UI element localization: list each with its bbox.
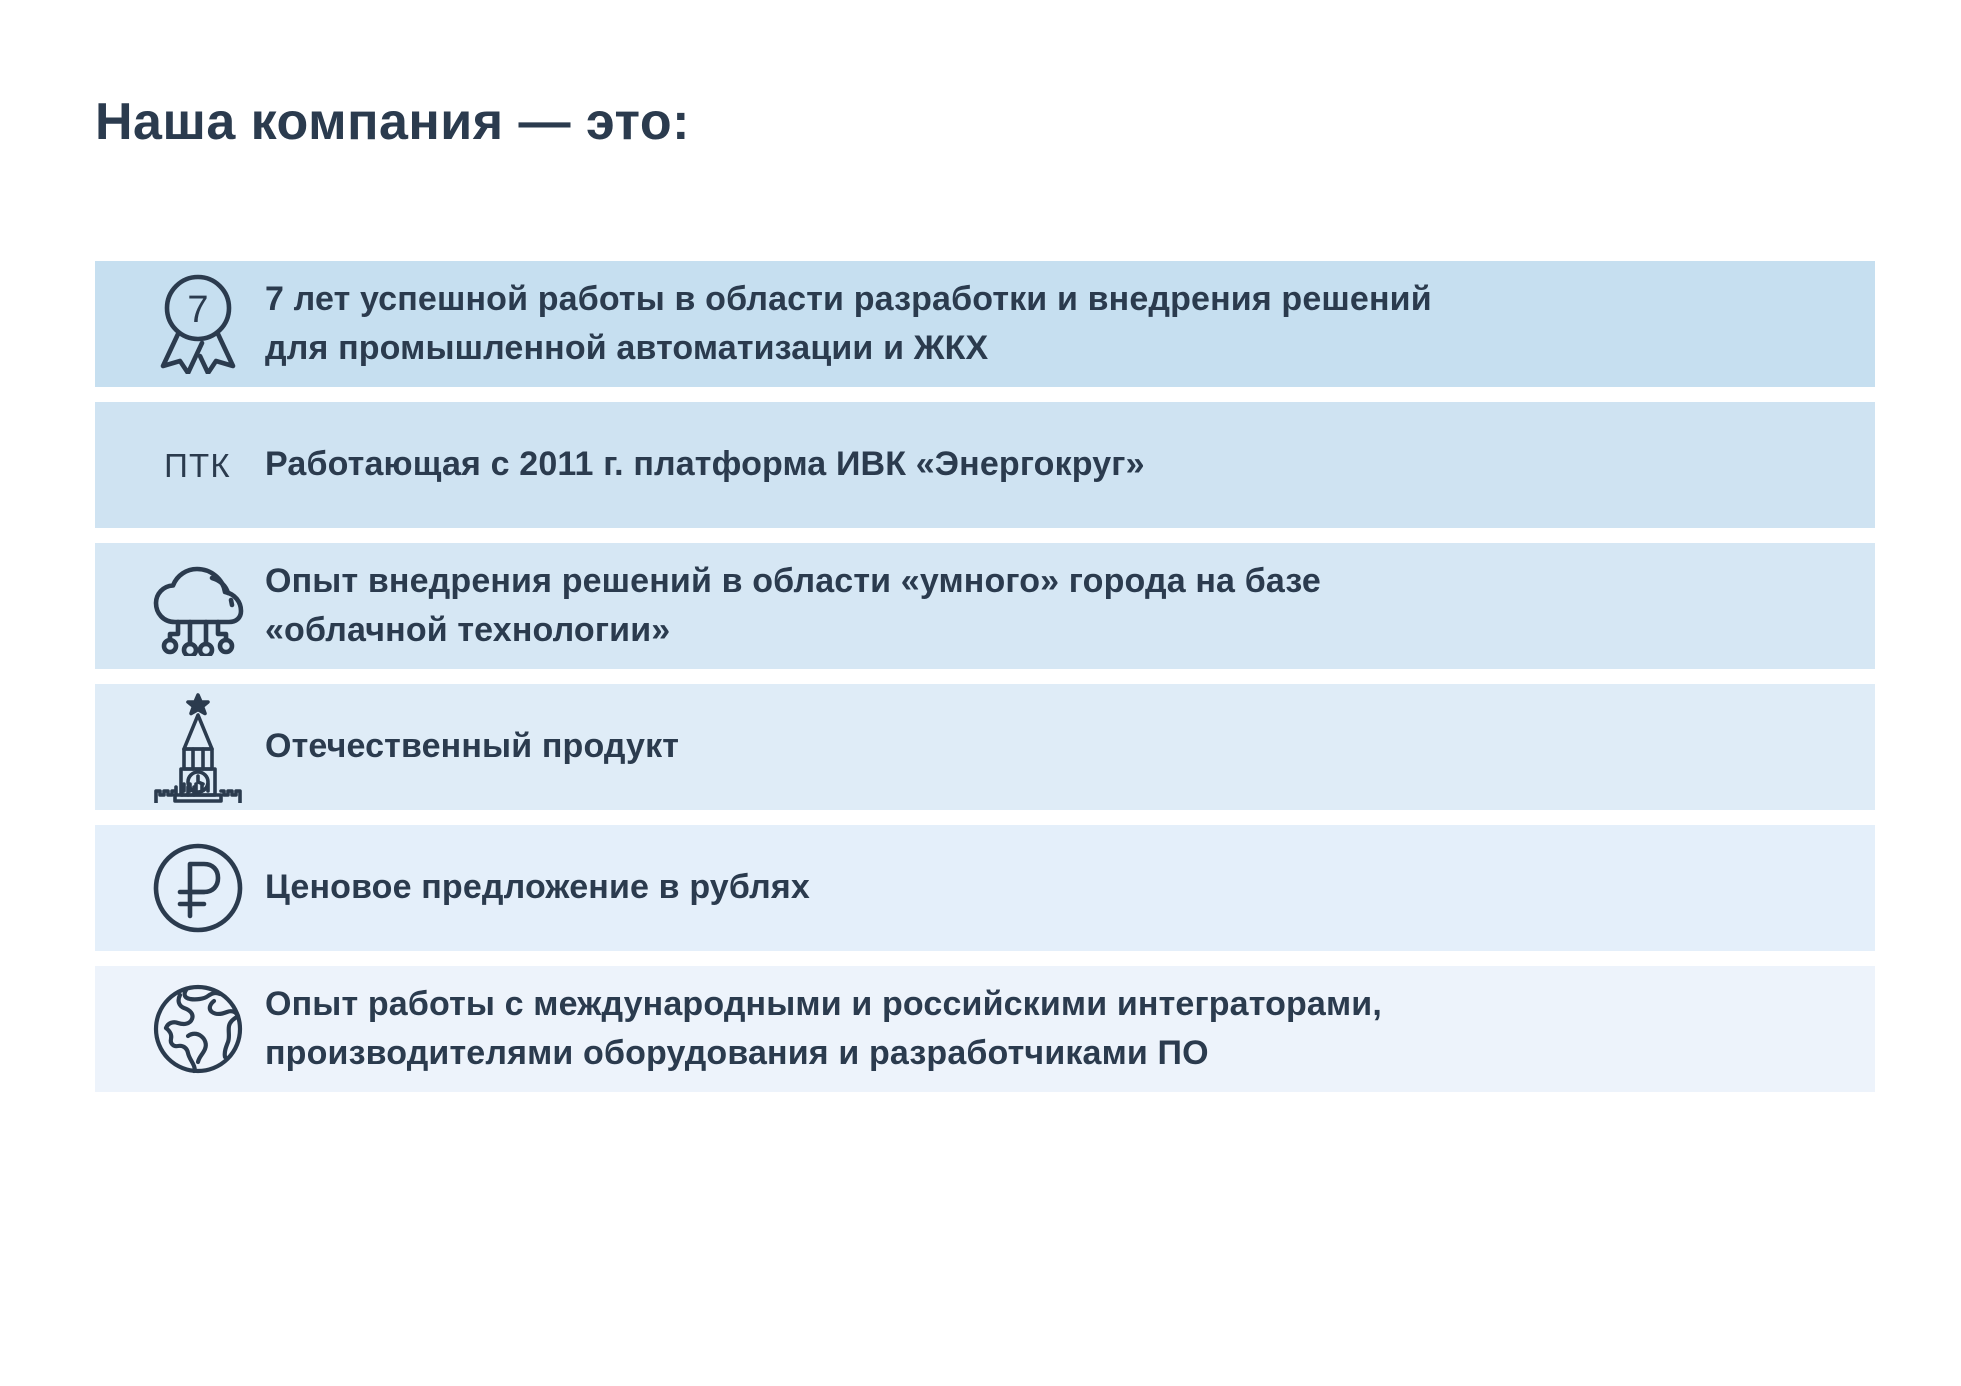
list-item: ПТК Работающая с 2011 г. платформа ИВК «… — [95, 402, 1875, 528]
list-item: Отечественный продукт — [95, 684, 1875, 810]
list-item-text: Отечественный продукт — [265, 722, 1875, 771]
slide: Наша компания — это: 7 7 лет успешной ра… — [0, 0, 1961, 1386]
page-title: Наша компания — это: — [95, 92, 690, 152]
benefits-list: 7 7 лет успешной работы в области разраб… — [95, 261, 1875, 1107]
globe-icon — [95, 966, 265, 1092]
list-item-text: Ценовое предложение в рублях — [265, 863, 1875, 912]
ptk-text-icon: ПТК — [95, 402, 265, 528]
kremlin-tower-icon — [95, 684, 265, 810]
list-item: 7 7 лет успешной работы в области разраб… — [95, 261, 1875, 387]
award-ribbon-value: 7 — [187, 289, 208, 331]
list-item: Опыт внедрения решений в области «умного… — [95, 543, 1875, 669]
list-item: Опыт работы с международными и российски… — [95, 966, 1875, 1092]
list-item-text: Опыт внедрения решений в области «умного… — [265, 557, 1875, 656]
list-item-text: Работающая с 2011 г. платформа ИВК «Энер… — [265, 440, 1875, 489]
list-item-text: 7 лет успешной работы в области разработ… — [265, 275, 1875, 374]
cloud-iot-icon — [95, 543, 265, 669]
list-item: Ценовое предложение в рублях — [95, 825, 1875, 951]
list-item-text: Опыт работы с международными и российски… — [265, 980, 1875, 1079]
award-ribbon-icon: 7 — [95, 261, 265, 387]
ruble-circle-icon — [95, 825, 265, 951]
ptk-label: ПТК — [164, 449, 231, 482]
